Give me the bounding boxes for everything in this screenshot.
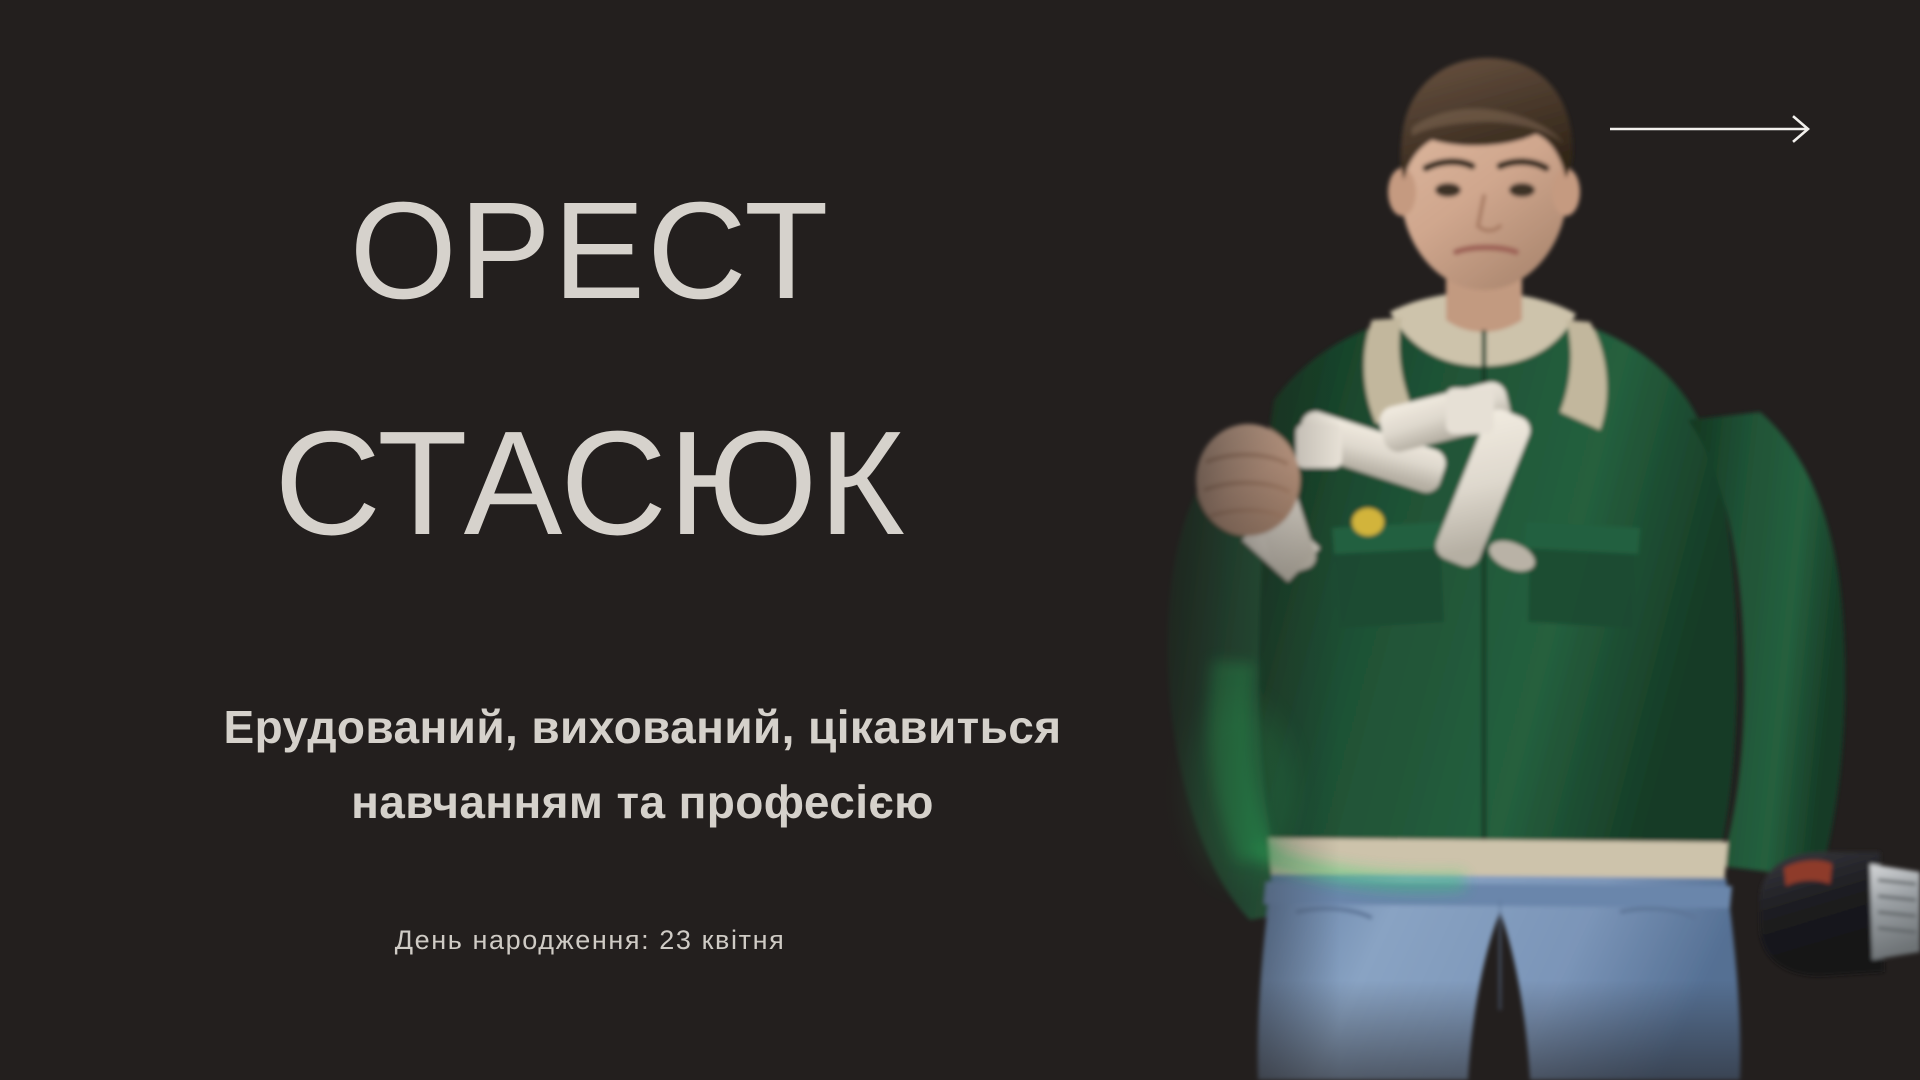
subtitle: Ерудований, вихований, цікавиться навчан…	[0, 690, 1285, 839]
title-line-first-name: ОРЕСТ	[0, 140, 1180, 364]
subtitle-line-2: навчанням та професією	[0, 765, 1285, 840]
arrow-right-icon	[1608, 112, 1816, 146]
presentation-slide: ОРЕСТ СТАСЮК Ерудований, вихований, ціка…	[0, 0, 1920, 1080]
subtitle-line-1: Ерудований, вихований, цікавиться	[0, 690, 1285, 765]
text-column: ОРЕСТ СТАСЮК Ерудований, вихований, ціка…	[0, 0, 1280, 1080]
title-line-last-name: СТАСЮК	[0, 364, 1180, 604]
birthday-text: День народження: 23 квітня	[0, 925, 1180, 956]
page-title: ОРЕСТ СТАСЮК	[0, 140, 1180, 603]
